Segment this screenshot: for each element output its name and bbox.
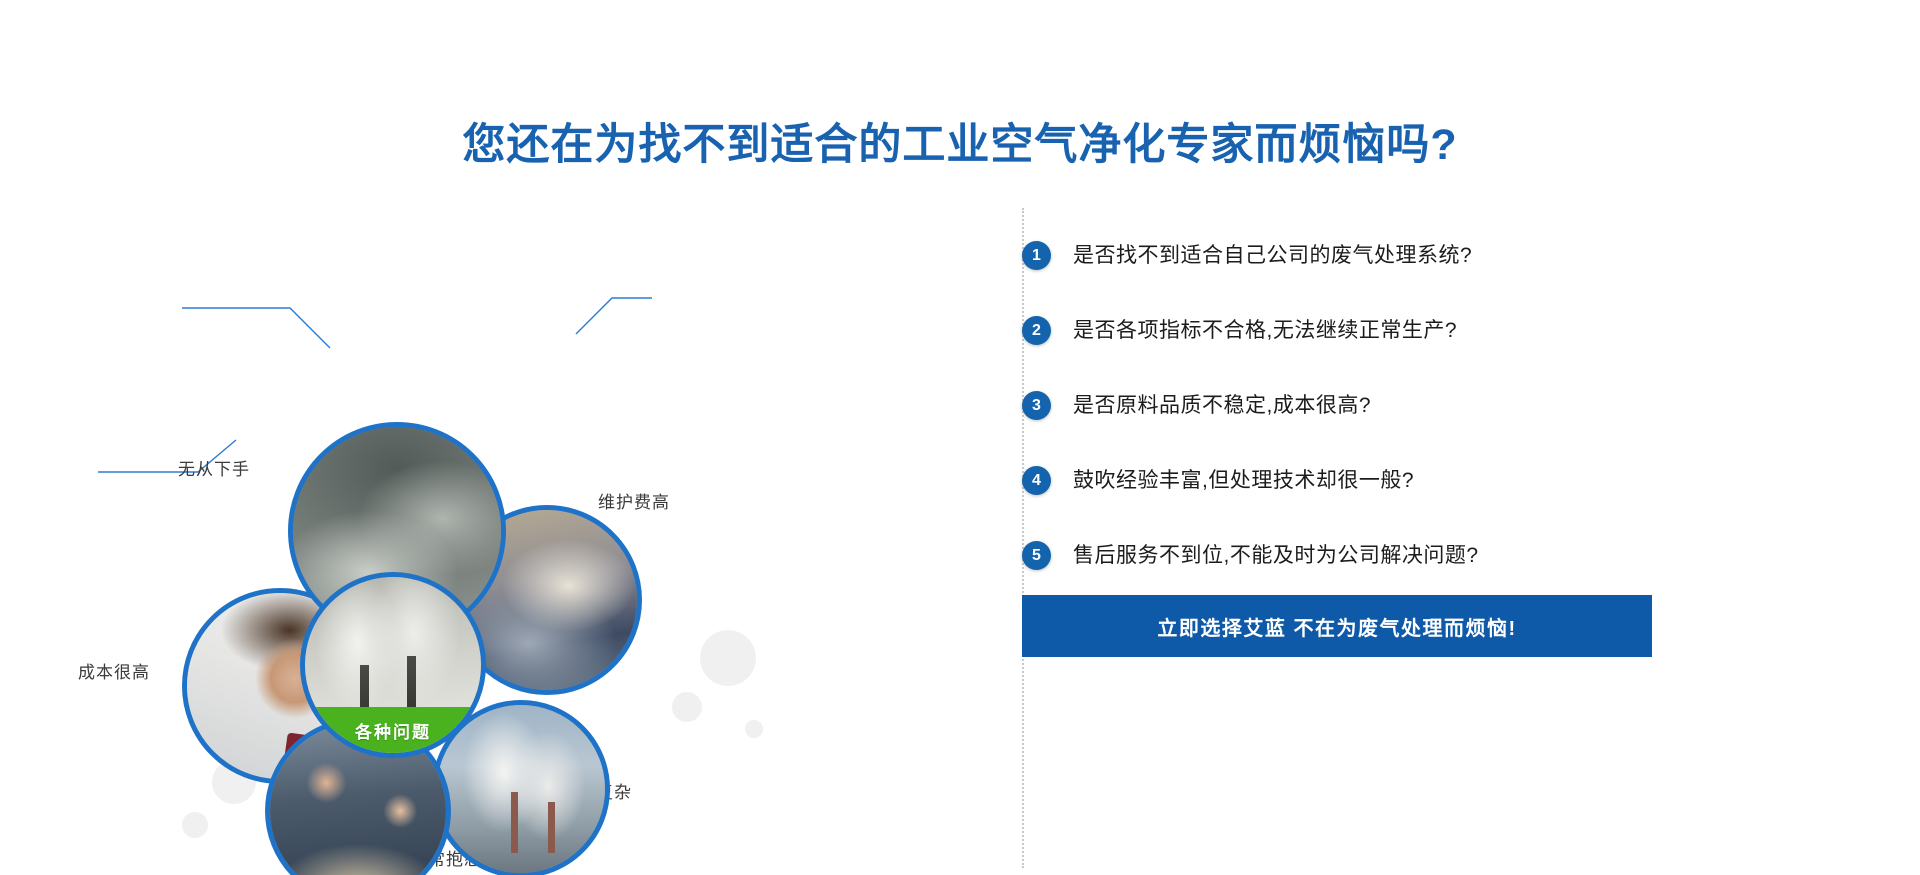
list-item-label: 是否各项指标不合格,无法继续正常生产?	[1073, 316, 1457, 346]
leader-line-no-idea	[182, 308, 330, 348]
question-list: 1 是否找不到适合自己公司的废气处理系统? 2 是否各项指标不合格,无法继续正常…	[1022, 218, 1902, 593]
list-item: 5 售后服务不到位,不能及时为公司解决问题?	[1022, 518, 1902, 593]
cta-button[interactable]: 立即选择艾蓝 不在为废气处理而烦恼!	[1022, 595, 1652, 657]
list-item-number-badge: 1	[1022, 241, 1051, 270]
problem-bubble-diagram: 各种问题 无从下手 维护费高 成本很高 太复杂 经常抱怨	[0, 200, 1010, 860]
list-item-label: 是否原料品质不稳定,成本很高?	[1073, 391, 1371, 421]
list-item-number-badge: 5	[1022, 541, 1051, 570]
bubble-twin-smokestacks-center: 各种问题	[300, 572, 486, 758]
list-item-number-badge: 2	[1022, 316, 1051, 345]
smokestack-detail	[511, 792, 518, 852]
smokestack-detail	[548, 802, 555, 852]
list-item: 2 是否各项指标不合格,无法继续正常生产?	[1022, 293, 1902, 368]
promo-banner: 您还在为找不到适合的工业空气净化专家而烦恼吗?	[0, 0, 1920, 875]
leader-line-maintenance	[576, 298, 652, 334]
list-item-label: 鼓吹经验丰富,但处理技术却很一般?	[1073, 466, 1414, 496]
questions-panel: 1 是否找不到适合自己公司的废气处理系统? 2 是否各项指标不合格,无法继续正常…	[1022, 200, 1902, 860]
callout-label-high-cost: 成本很高	[78, 658, 150, 683]
list-item: 1 是否找不到适合自己公司的废气处理系统?	[1022, 218, 1902, 293]
list-item-number-badge: 4	[1022, 466, 1051, 495]
list-item-label: 售后服务不到位,不能及时为公司解决问题?	[1073, 541, 1479, 571]
list-item-number-badge: 3	[1022, 391, 1051, 420]
callout-label-no-idea: 无从下手	[178, 455, 250, 480]
list-item: 4 鼓吹经验丰富,但处理技术却很一般?	[1022, 443, 1902, 518]
page-title: 您还在为找不到适合的工业空气净化专家而烦恼吗?	[0, 117, 1920, 173]
list-item-label: 是否找不到适合自己公司的废气处理系统?	[1073, 241, 1472, 271]
center-label-band: 各种问题	[305, 707, 481, 753]
list-item: 3 是否原料品质不稳定,成本很高?	[1022, 368, 1902, 443]
center-label-text: 各种问题	[355, 718, 431, 743]
cta-button-label: 立即选择艾蓝 不在为废气处理而烦恼!	[1157, 612, 1516, 641]
